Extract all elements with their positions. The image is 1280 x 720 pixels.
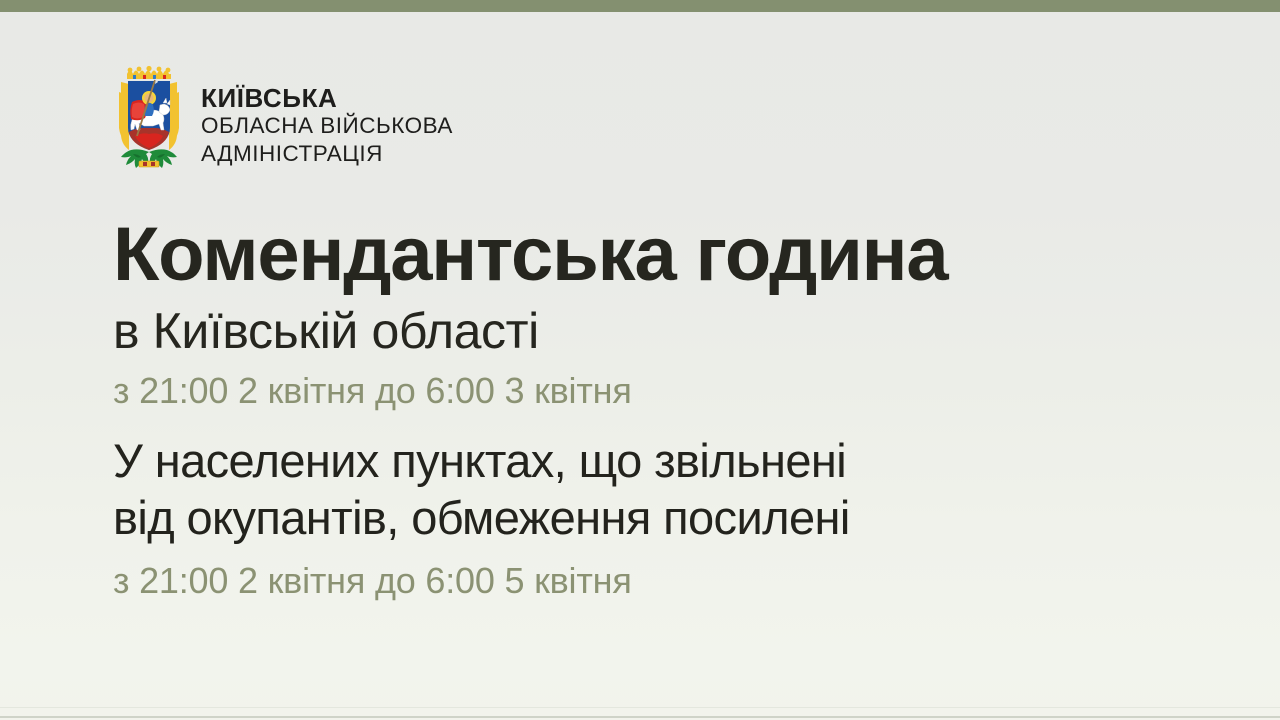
logo-lockup: КИЇВСЬКА ОБЛАСНА ВІЙСЬКОВА АДМІНІСТРАЦІЯ: [113, 62, 453, 174]
notice-body: У населених пунктах, що звільнені від ок…: [113, 432, 1243, 547]
logo-text-block: КИЇВСЬКА ОБЛАСНА ВІЙСЬКОВА АДМІНІСТРАЦІЯ: [201, 62, 453, 167]
bottom-divider-light: [0, 707, 1280, 708]
page-subtitle: в Київській області: [113, 304, 1243, 359]
curfew-time-secondary: з 21:00 2 квітня до 6:00 5 квітня: [113, 561, 1243, 601]
bottom-divider-dark: [0, 716, 1280, 718]
page-title: Комендантська година: [113, 215, 1243, 296]
logo-subtitle-line-1: ОБЛАСНА ВІЙСЬКОВА: [201, 112, 453, 139]
kyiv-oblast-coat-of-arms-icon: [113, 62, 185, 174]
poster-canvas: КИЇВСЬКА ОБЛАСНА ВІЙСЬКОВА АДМІНІСТРАЦІЯ…: [0, 0, 1280, 720]
top-accent-bar: [0, 0, 1280, 12]
curfew-time-primary: з 21:00 2 квітня до 6:00 3 квітня: [113, 371, 1243, 411]
logo-title-region: КИЇВСЬКА: [201, 84, 453, 112]
content-block: Комендантська година в Київській області…: [113, 215, 1243, 600]
logo-subtitle-line-2: АДМІНІСТРАЦІЯ: [201, 140, 453, 167]
notice-body-line-1: У населених пунктах, що звільнені: [113, 432, 1243, 489]
notice-body-line-2: від окупантів, обмеження посилені: [113, 489, 1243, 546]
